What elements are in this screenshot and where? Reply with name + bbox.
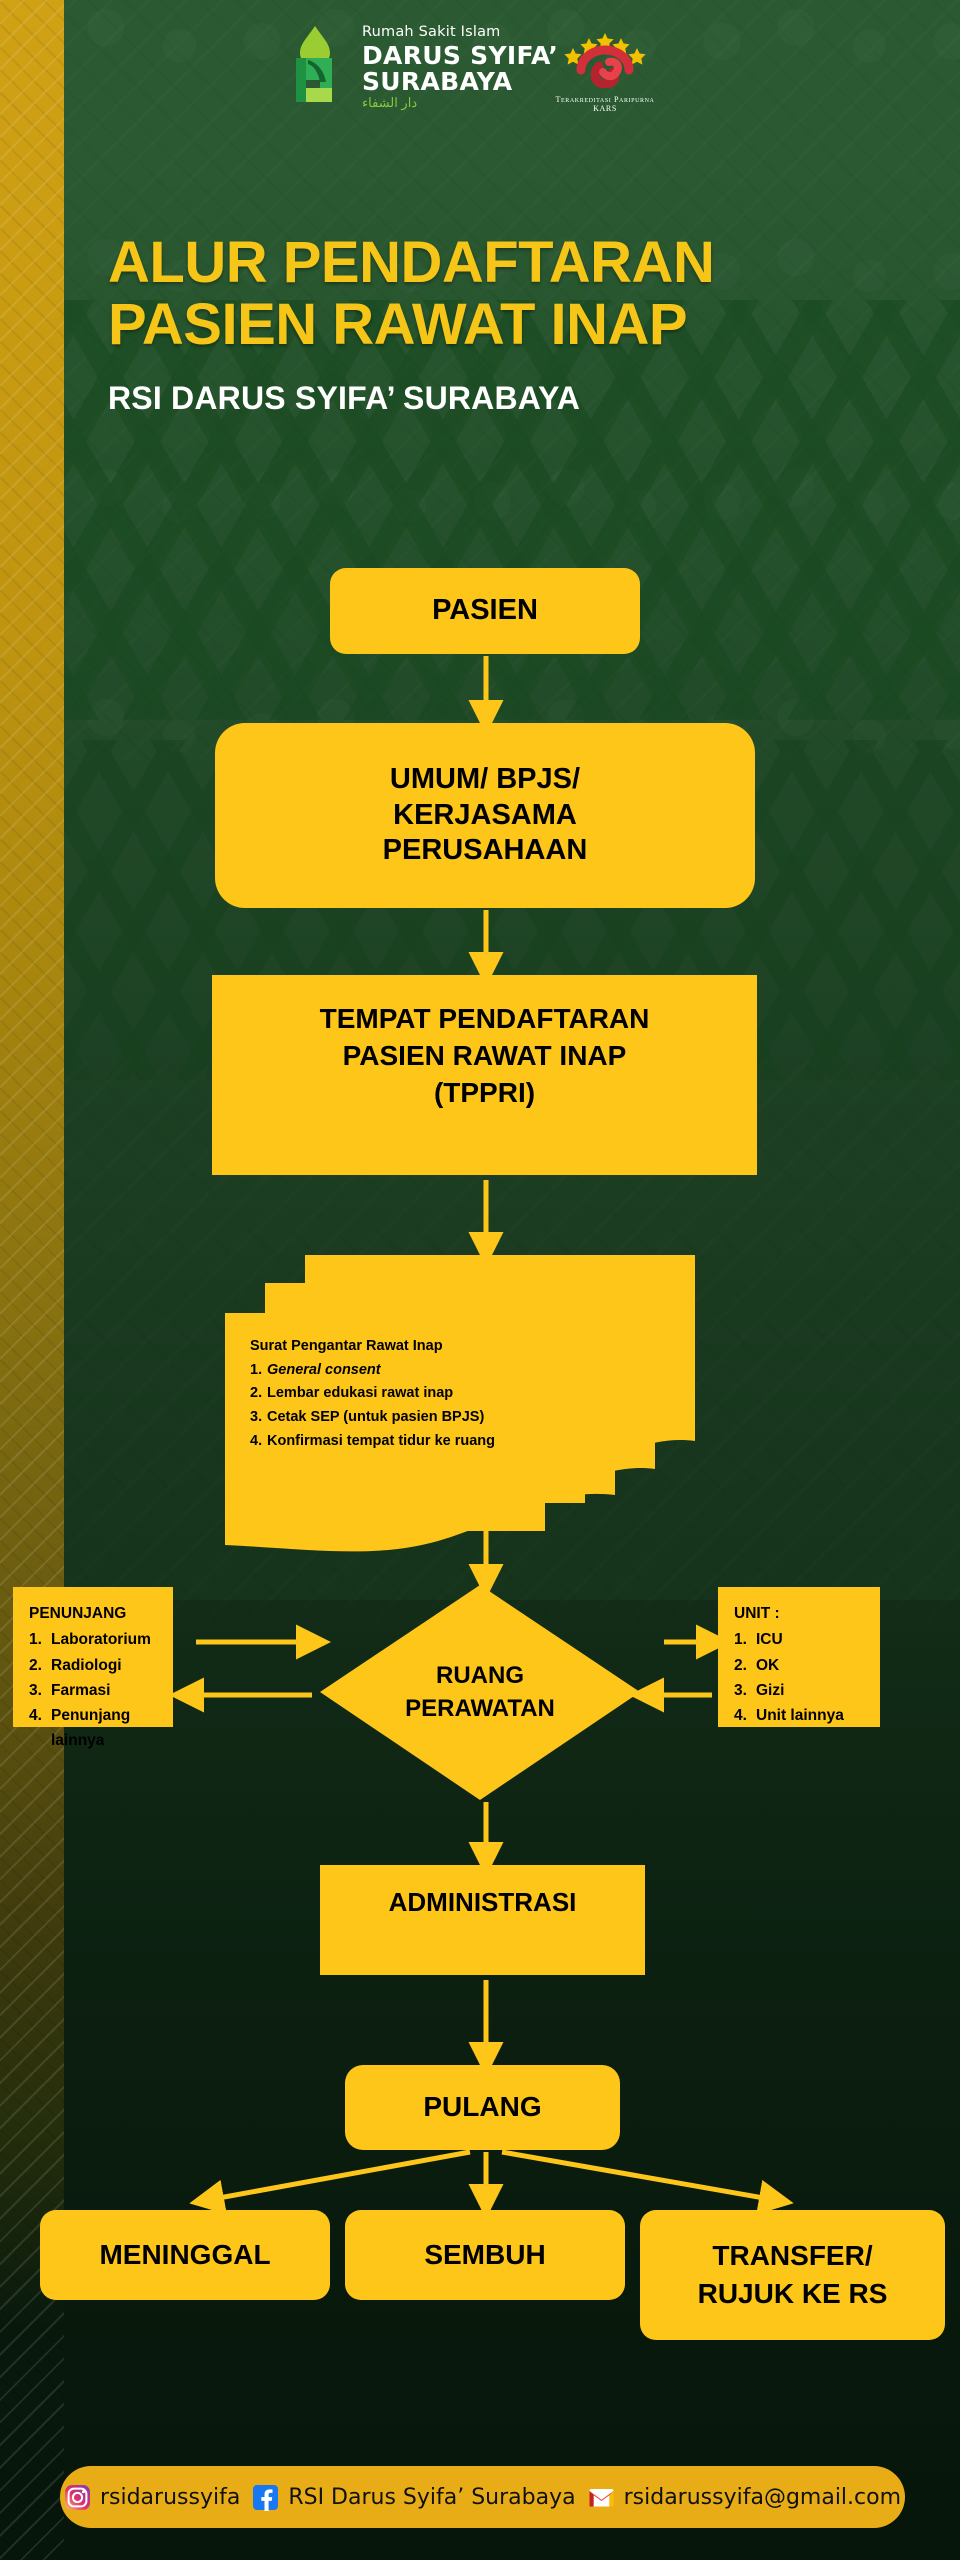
list-item-label: Cetak SEP (untuk pasien BPJS) [267, 1409, 484, 1425]
instagram-handle: rsidarussyifa [100, 2485, 240, 2510]
email-address: rsidarussyifa@gmail.com [624, 2485, 901, 2510]
flow-node-pulang[interactable]: PULANG [345, 2065, 620, 2150]
flow-node-umum-line3: PERUSAHAAN [383, 833, 588, 868]
flow-node-transfer-rujuk[interactable]: TRANSFER/ RUJUK KE RS [640, 2210, 945, 2340]
list-item: 4.Unit lainnya [734, 1703, 868, 1728]
list-item: 1.Laboratorium [29, 1627, 161, 1652]
gmail-icon [588, 2484, 615, 2511]
flow-node-unit[interactable]: UNIT : 1.ICU 2.OK 3.Gizi 4.Unit lainnya [718, 1587, 880, 1727]
flow-node-tppri-line2: PASIEN RAWAT INAP [212, 1038, 757, 1075]
ruang-perawatan-label: RUANG PERAWATAN [320, 1585, 640, 1800]
list-item: 2.Radiologi [29, 1653, 161, 1678]
list-item: 3.Farmasi [29, 1678, 161, 1703]
flow-node-document-stack[interactable]: Surat Pengantar Rawat Inap 1.General con… [200, 1255, 760, 1545]
list-item-label: Farmasi [51, 1678, 110, 1703]
list-item-number: 3. [250, 1406, 267, 1430]
list-item-number: 4. [250, 1430, 267, 1454]
flow-node-sembuh-label: SEMBUH [424, 2238, 545, 2272]
list-item: 4.Konfirmasi tempat tidur ke ruang [250, 1430, 630, 1454]
flow-node-umum-line1: UMUM/ BPJS/ [383, 762, 588, 797]
list-item: 4.Penunjang lainnya [29, 1703, 161, 1754]
list-item-label: Radiologi [51, 1653, 122, 1678]
list-item-number: 1. [734, 1627, 756, 1652]
footer-facebook[interactable]: RSI Darus Syifa’ Surabaya [252, 2484, 575, 2511]
list-item-label: Penunjang lainnya [51, 1703, 161, 1754]
flow-node-transfer-line2: RUJUK KE RS [698, 2275, 888, 2313]
list-item-number: 3. [734, 1678, 756, 1703]
list-item-number: 3. [29, 1678, 51, 1703]
list-item-label: Lembar edukasi rawat inap [267, 1385, 453, 1401]
flow-node-administrasi[interactable]: ADMINISTRASI [320, 1865, 645, 1975]
list-item-number: 2. [29, 1653, 51, 1678]
list-item: 1.ICU [734, 1627, 868, 1652]
flow-node-pulang-label: PULANG [423, 2090, 541, 2124]
flow-node-tppri-line3: (TPPRI) [212, 1075, 757, 1112]
flow-node-sembuh[interactable]: SEMBUH [345, 2210, 625, 2300]
list-item-label: Laboratorium [51, 1627, 151, 1652]
list-item: 2.Lembar edukasi rawat inap [250, 1382, 630, 1406]
list-item-number: 1. [250, 1359, 267, 1383]
flow-node-umum-line2: KERJASAMA [383, 798, 588, 833]
list-item-label: OK [756, 1653, 779, 1678]
flow-node-pasien-label: PASIEN [432, 593, 538, 628]
list-item: 1.General consent [250, 1359, 630, 1383]
unit-title: UNIT : [734, 1601, 868, 1626]
flow-node-transfer-line1: TRANSFER/ [698, 2237, 888, 2275]
list-item-label: General consent [267, 1362, 381, 1378]
ruang-perawatan-line1: RUANG [436, 1660, 524, 1692]
flow-node-tppri[interactable]: TEMPAT PENDAFTARAN PASIEN RAWAT INAP (TP… [212, 975, 757, 1175]
list-item-label: Unit lainnya [756, 1703, 844, 1728]
list-item-number: 4. [29, 1703, 51, 1754]
list-item-label: ICU [756, 1627, 783, 1652]
list-item-number: 2. [734, 1653, 756, 1678]
list-item: 2.OK [734, 1653, 868, 1678]
flow-node-meninggal-label: MENINGGAL [99, 2238, 270, 2272]
footer-email[interactable]: rsidarussyifa@gmail.com [588, 2484, 901, 2511]
document-stack-list: 1.General consent 2.Lembar edukasi rawat… [250, 1359, 630, 1454]
facebook-icon [252, 2484, 279, 2511]
flowchart: PASIEN UMUM/ BPJS/ KERJASAMA PERUSAHAAN … [0, 0, 960, 2560]
flow-node-tppri-line1: TEMPAT PENDAFTARAN [212, 1001, 757, 1038]
flow-node-penunjang[interactable]: PENUNJANG 1.Laboratorium 2.Radiologi 3.F… [13, 1587, 173, 1727]
ruang-perawatan-line2: PERAWATAN [405, 1693, 555, 1725]
flow-node-umum-bpjs-kerjasama[interactable]: UMUM/ BPJS/ KERJASAMA PERUSAHAAN [215, 723, 755, 908]
list-item: 3.Cetak SEP (untuk pasien BPJS) [250, 1406, 630, 1430]
list-item-label: Konfirmasi tempat tidur ke ruang [267, 1433, 495, 1449]
document-stack-content: Surat Pengantar Rawat Inap 1.General con… [250, 1335, 630, 1453]
contact-footer: rsidarussyifa RSI Darus Syifa’ Surabaya … [60, 2466, 905, 2528]
flow-node-pasien[interactable]: PASIEN [330, 568, 640, 654]
list-item-number: 4. [734, 1703, 756, 1728]
penunjang-title: PENUNJANG [29, 1601, 161, 1626]
list-item-label: Gizi [756, 1678, 784, 1703]
flow-node-meninggal[interactable]: MENINGGAL [40, 2210, 330, 2300]
document-stack-heading: Surat Pengantar Rawat Inap [250, 1335, 630, 1359]
list-item-number: 2. [250, 1382, 267, 1406]
list-item: 3.Gizi [734, 1678, 868, 1703]
flow-node-ruang-perawatan[interactable]: RUANG PERAWATAN [320, 1585, 640, 1800]
list-item-number: 1. [29, 1627, 51, 1652]
facebook-name: RSI Darus Syifa’ Surabaya [288, 2485, 575, 2510]
instagram-icon [64, 2484, 91, 2511]
footer-instagram[interactable]: rsidarussyifa [64, 2484, 240, 2511]
flow-node-administrasi-label: ADMINISTRASI [389, 1887, 577, 1917]
